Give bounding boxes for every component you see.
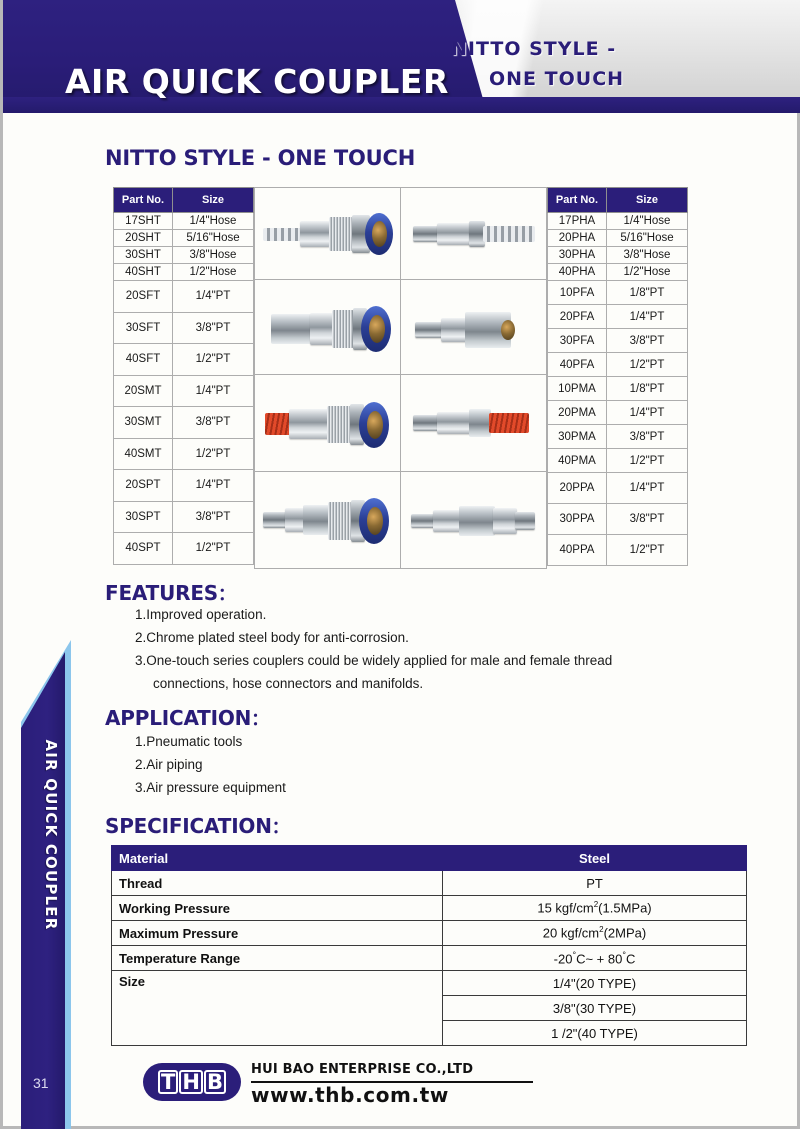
specification-title: SPECIFICATION — [105, 814, 272, 838]
size-cell: 1/4"PT — [173, 375, 254, 407]
table-row: 40PMA1/2"PT — [548, 449, 688, 473]
size-cell: 3/8"Hose — [607, 247, 688, 264]
spec-value: PT — [443, 871, 747, 896]
thb-logo: THB — [143, 1063, 241, 1101]
spec-value: 1/4"(20 TYPE) — [443, 971, 747, 996]
size-cell: 1/4"PT — [607, 473, 688, 504]
company-name: HUI BAO ENTERPRISE CO.,LTD — [251, 1062, 473, 1077]
table-row: 10PFA1/8"PT — [548, 281, 688, 305]
spec-value: 1 /2"(40 TYPE) — [443, 1021, 747, 1046]
size-cell: 3/8"PT — [607, 504, 688, 535]
left-header-size: Size — [173, 188, 254, 213]
right-part-table: Part No. Size 17PHA1/4"Hose 20PHA5/16"Ho… — [547, 187, 688, 566]
table-row: 40SHT1/2"Hose — [114, 264, 254, 281]
size-cell: 1/4"PT — [173, 470, 254, 502]
size-cell: 1/4"Hose — [607, 213, 688, 230]
website-url[interactable]: www.thb.com.tw — [251, 1083, 449, 1107]
size-cell: 1/4"PT — [173, 281, 254, 313]
page-title: AIR QUICK COUPLER — [65, 62, 449, 101]
table-header-row: Part No. Size — [548, 188, 688, 213]
spec-key: Size — [112, 971, 443, 1046]
temp-c: C — [626, 951, 635, 966]
spec-value: Steel — [443, 846, 747, 871]
table-row: 20PFA1/4"PT — [548, 305, 688, 329]
side-tab-label: AIR QUICK COUPLER — [42, 645, 60, 1025]
table-row: 40PPA1/2"PT — [548, 535, 688, 566]
part-cell: 40SFT — [114, 344, 173, 376]
size-cell: 1/2"PT — [173, 438, 254, 470]
part-cell: 30SFT — [114, 312, 173, 344]
features-colon: ： — [218, 585, 235, 605]
part-cell: 20PFA — [548, 305, 607, 329]
size-cell: 1/2"Hose — [173, 264, 254, 281]
size-cell: 1/2"PT — [173, 533, 254, 565]
logo-letter-t: T — [158, 1070, 178, 1094]
size-cell: 5/16"Hose — [607, 230, 688, 247]
size-cell: 1/2"Hose — [607, 264, 688, 281]
right-header-part-no: Part No. — [548, 188, 607, 213]
part-cell: 20PPA — [548, 473, 607, 504]
part-cell: 30SPT — [114, 501, 173, 533]
temp-a: -20 — [554, 951, 573, 966]
spec-row-thread: Thread PT — [112, 871, 747, 896]
list-item: 1.Pneumatic tools — [135, 730, 695, 753]
size-cell: 3/8"Hose — [173, 247, 254, 264]
specification-colon: ： — [272, 818, 289, 838]
spec-value: 15 kgf/cm2(1.5MPa) — [443, 896, 747, 921]
socket-male-thread-photo — [255, 375, 401, 472]
part-cell: 40PHA — [548, 264, 607, 281]
logo-letter-b: B — [204, 1070, 226, 1094]
spec-key: Temperature Range — [112, 946, 443, 971]
table-row: 30PHA3/8"Hose — [548, 247, 688, 264]
application-title: APPLICATION — [105, 706, 251, 730]
spec-key: Working Pressure — [112, 896, 443, 921]
page-footer: THB HUI BAO ENTERPRISE CO.,LTD www.thb.c… — [143, 1055, 703, 1115]
header-subtitle-line1: NITTO STYLE - — [437, 34, 767, 64]
part-cell: 20SHT — [114, 230, 173, 247]
size-cell: 3/8"PT — [607, 425, 688, 449]
table-row: 10PMA1/8"PT — [548, 377, 688, 401]
part-cell: 40SMT — [114, 438, 173, 470]
spec-key: Material — [112, 846, 443, 871]
list-item: 2.Chrome plated steel body for anti-corr… — [135, 626, 755, 649]
part-cell: 20SPT — [114, 470, 173, 502]
socket-female-thread-photo — [255, 280, 401, 375]
size-cell: 3/8"PT — [173, 312, 254, 344]
table-row: 30SFT3/8"PT — [114, 312, 254, 344]
table-row: 20SHT5/16"Hose — [114, 230, 254, 247]
table-row: 20SPT1/4"PT — [114, 470, 254, 502]
size-cell: 3/8"PT — [173, 407, 254, 439]
table-row: 20PMA1/4"PT — [548, 401, 688, 425]
application-colon: ： — [251, 710, 268, 730]
part-cell: 40SHT — [114, 264, 173, 281]
application-list: 1.Pneumatic tools 2.Air piping 3.Air pre… — [135, 730, 695, 799]
spec-row-working-pressure: Working Pressure 15 kgf/cm2(1.5MPa) — [112, 896, 747, 921]
product-image-grid — [254, 187, 547, 569]
table-row: 17SHT1/4"Hose — [114, 213, 254, 230]
table-row: 20SFT1/4"PT — [114, 281, 254, 313]
list-item: 3.One-touch series couplers could be wid… — [135, 649, 755, 672]
spec-value: 20 kgf/cm2(2MPa) — [443, 921, 747, 946]
socket-plug-assembly-photo — [255, 472, 401, 569]
table-header-row: Part No. Size — [114, 188, 254, 213]
features-heading: FEATURES： — [105, 580, 235, 605]
header-subtitle-line2: ONE TOUCH — [437, 64, 767, 94]
left-part-table: Part No. Size 17SHT1/4"Hose 20SHT5/16"Ho… — [113, 187, 254, 565]
table-row: 40SFT1/2"PT — [114, 344, 254, 376]
table-row: 40SMT1/2"PT — [114, 438, 254, 470]
image-row — [255, 472, 547, 569]
spec-key: Maximum Pressure — [112, 921, 443, 946]
spec-row-temperature-range: Temperature Range -20°C~ + 80°C — [112, 946, 747, 971]
product-table: Part No. Size 17SHT1/4"Hose 20SHT5/16"Ho… — [113, 187, 703, 564]
table-row: 30PPA3/8"PT — [548, 504, 688, 535]
part-cell: 20PHA — [548, 230, 607, 247]
right-header-size: Size — [607, 188, 688, 213]
size-cell: 3/8"PT — [607, 329, 688, 353]
table-row: 20PPA1/4"PT — [548, 473, 688, 504]
image-row — [255, 375, 547, 472]
size-cell: 1/2"PT — [607, 353, 688, 377]
size-cell: 3/8"PT — [173, 501, 254, 533]
image-row — [255, 280, 547, 375]
list-item: connections, hose connectors and manifol… — [135, 672, 755, 695]
table-row: 30SMT3/8"PT — [114, 407, 254, 439]
socket-hose-barb-photo — [255, 188, 401, 280]
list-item: 3.Air pressure equipment — [135, 776, 695, 799]
plug-hose-barb-photo — [401, 188, 547, 280]
size-cell: 1/8"PT — [607, 281, 688, 305]
spec-value: -20°C~ + 80°C — [443, 946, 747, 971]
side-tab: AIR QUICK COUPLER — [21, 640, 71, 1129]
part-cell: 30PPA — [548, 504, 607, 535]
size-cell: 1/4"Hose — [173, 213, 254, 230]
table-row: 40SPT1/2"PT — [114, 533, 254, 565]
temp-b: C~ + 80 — [576, 951, 622, 966]
table-row: 30SHT3/8"Hose — [114, 247, 254, 264]
table-row: 17PHA1/4"Hose — [548, 213, 688, 230]
features-title: FEATURES — [105, 581, 218, 605]
size-cell: 1/2"PT — [173, 344, 254, 376]
part-cell: 30SMT — [114, 407, 173, 439]
size-cell: 5/16"Hose — [173, 230, 254, 247]
table-row: 20SMT1/4"PT — [114, 375, 254, 407]
spec-row-maximum-pressure: Maximum Pressure 20 kgf/cm2(2MPa) — [112, 921, 747, 946]
spec-key: Thread — [112, 871, 443, 896]
part-cell: 20SMT — [114, 375, 173, 407]
part-cell: 20SFT — [114, 281, 173, 313]
size-cell: 1/4"PT — [607, 401, 688, 425]
image-row — [255, 188, 547, 280]
size-cell: 1/8"PT — [607, 377, 688, 401]
left-header-part-no: Part No. — [114, 188, 173, 213]
page-number: 31 — [33, 1075, 49, 1091]
part-cell: 40SPT — [114, 533, 173, 565]
spec-row-size-1: Size 1/4"(20 TYPE) — [112, 971, 747, 996]
plug-plug-assembly-photo — [401, 472, 547, 569]
part-cell: 20PMA — [548, 401, 607, 425]
part-cell: 40PPA — [548, 535, 607, 566]
list-item: 1.Improved operation. — [135, 603, 755, 626]
part-cell: 40PMA — [548, 449, 607, 473]
part-cell: 30PMA — [548, 425, 607, 449]
logo-letter-h: H — [179, 1070, 203, 1094]
part-cell: 10PMA — [548, 377, 607, 401]
table-row: 20PHA5/16"Hose — [548, 230, 688, 247]
table-row: 40PFA1/2"PT — [548, 353, 688, 377]
plug-female-thread-photo — [401, 280, 547, 375]
part-cell: 17SHT — [114, 213, 173, 230]
table-row: 40PHA1/2"Hose — [548, 264, 688, 281]
plug-male-thread-photo — [401, 375, 547, 472]
application-heading: APPLICATION： — [105, 705, 268, 730]
part-cell: 10PFA — [548, 281, 607, 305]
header-subtitle: NITTO STYLE - ONE TOUCH — [437, 34, 767, 94]
catalog-page: AIR QUICK COUPLER NITTO STYLE - ONE TOUC… — [0, 0, 800, 1129]
table-row: 30PMA3/8"PT — [548, 425, 688, 449]
part-cell: 17PHA — [548, 213, 607, 230]
size-cell: 1/4"PT — [607, 305, 688, 329]
part-cell: 40PFA — [548, 353, 607, 377]
part-cell: 30PHA — [548, 247, 607, 264]
features-list: 1.Improved operation. 2.Chrome plated st… — [135, 603, 755, 695]
spec-row-material: Material Steel — [112, 846, 747, 871]
specification-heading: SPECIFICATION： — [105, 813, 289, 838]
section-title: NITTO STYLE - ONE TOUCH — [105, 146, 415, 170]
size-cell: 1/2"PT — [607, 535, 688, 566]
mp-tail: (2MPa) — [604, 926, 647, 941]
spec-value: 3/8"(30 TYPE) — [443, 996, 747, 1021]
table-row: 30SPT3/8"PT — [114, 501, 254, 533]
specification-table: Material Steel Thread PT Working Pressur… — [111, 845, 747, 1046]
page-header: AIR QUICK COUPLER NITTO STYLE - ONE TOUC… — [3, 0, 800, 113]
list-item: 2.Air piping — [135, 753, 695, 776]
table-row: 30PFA3/8"PT — [548, 329, 688, 353]
mp-num: 20 kgf/cm — [543, 926, 599, 941]
part-cell: 30SHT — [114, 247, 173, 264]
wp-num: 15 kgf/cm — [537, 901, 593, 916]
wp-tail: (1.5MPa) — [598, 901, 651, 916]
part-cell: 30PFA — [548, 329, 607, 353]
size-cell: 1/2"PT — [607, 449, 688, 473]
